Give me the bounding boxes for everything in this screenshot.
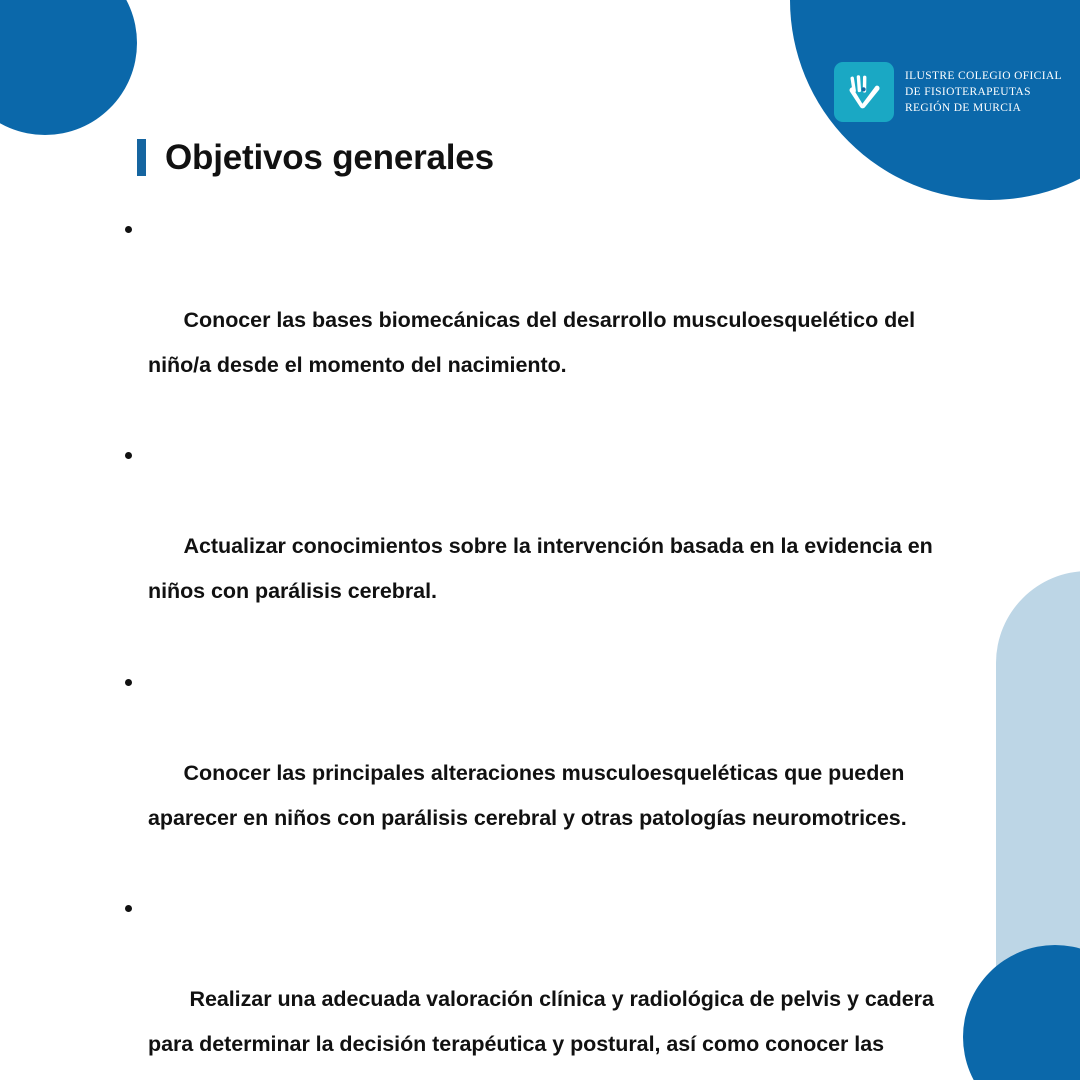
decorative-circle-bottom-right [963, 945, 1080, 1080]
list-item-text: Conocer las bases biomecánicas del desar… [148, 308, 921, 377]
page-title: Objetivos generales [165, 140, 494, 175]
page-heading: Objetivos generales [137, 139, 494, 176]
logo-text-line-2: DE FISIOTERAPEUTAS [905, 84, 1062, 100]
bullet-icon [125, 905, 132, 912]
bullet-icon [125, 226, 132, 233]
bullet-icon [125, 679, 132, 686]
logo-text-block: ILUSTRE COLEGIO OFICIAL DE FISIOTERAPEUT… [905, 68, 1062, 117]
logo-text-line-3: REGIÓN DE MURCIA [905, 100, 1062, 116]
list-item-text: Actualizar conocimientos sobre la interv… [148, 534, 939, 603]
list-item: Realizar una adecuada valoración clínica… [120, 886, 956, 1080]
list-item: Conocer las bases biomecánicas del desar… [120, 207, 956, 433]
hand-check-icon [834, 62, 894, 122]
slide-canvas: ILUSTRE COLEGIO OFICIAL DE FISIOTERAPEUT… [0, 0, 1080, 1080]
organization-logo: ILUSTRE COLEGIO OFICIAL DE FISIOTERAPEUT… [834, 62, 1062, 122]
bullet-icon [125, 452, 132, 459]
objectives-list: Conocer las bases biomecánicas del desar… [120, 207, 956, 1080]
list-item-text: Realizar una adecuada valoración clínica… [148, 987, 940, 1080]
decorative-pill-right [996, 571, 1080, 991]
heading-accent-bar [137, 139, 146, 176]
list-item: Actualizar conocimientos sobre la interv… [120, 433, 956, 659]
logo-text-line-1: ILUSTRE COLEGIO OFICIAL [905, 68, 1062, 84]
decorative-circle-top-left [0, 0, 137, 135]
list-item: Conocer las principales alteraciones mus… [120, 660, 956, 886]
list-item-text: Conocer las principales alteraciones mus… [148, 761, 910, 830]
